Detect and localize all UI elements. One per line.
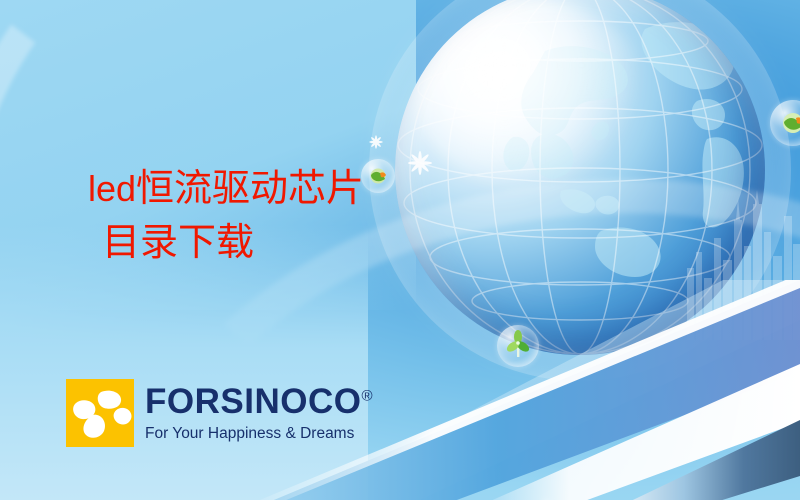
promo-banner: led恒流驱动芯片 目录下载 FORSINOCO® For Your Happi… [0, 0, 800, 500]
bubble-edge-right [770, 100, 800, 146]
headline-line-1-latin: led [88, 168, 136, 209]
bubble-globe-icon [361, 159, 395, 193]
headline-text: led恒流驱动芯片 目录下载 [88, 166, 364, 267]
brand-name: FORSINOCO® [145, 384, 373, 419]
city-skyline-silhouette-icon [685, 190, 800, 340]
four-petal-pinwheel-icon [66, 379, 134, 447]
brand-logo: FORSINOCO® For Your Happiness & Dreams [66, 379, 373, 447]
headline-line-2: 目录下载 [102, 220, 364, 266]
bubble-pinwheel-icon [497, 325, 539, 367]
registered-trademark-icon: ® [361, 388, 373, 405]
brand-logo-text: FORSINOCO® For Your Happiness & Dreams [145, 384, 373, 442]
green-pinwheel-icon [497, 325, 539, 367]
brand-tagline: For Your Happiness & Dreams [145, 426, 373, 442]
flower-large-mid-icon [405, 148, 435, 178]
headline-line-1-cjk: 恒流驱动芯片 [136, 168, 364, 210]
brand-name-word: FORSINOCO [145, 382, 361, 421]
flower-small-upper-icon [367, 133, 385, 151]
headline-line-1: led恒流驱动芯片 [88, 166, 364, 212]
mini-globe-icon [361, 159, 395, 193]
mini-globe-icon [770, 100, 800, 146]
